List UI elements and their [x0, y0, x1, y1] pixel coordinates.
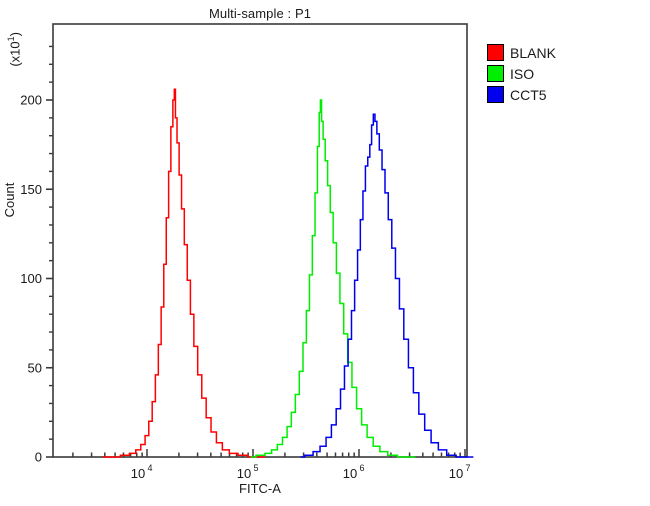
legend-swatch-cct5	[487, 86, 504, 103]
svg-text:10: 10	[449, 466, 463, 481]
curve-layer	[102, 89, 473, 457]
series-curve-cct5	[300, 114, 473, 457]
x-tick-label: 104	[131, 463, 153, 481]
svg-text:10: 10	[237, 466, 251, 481]
x-tick-label: 106	[343, 463, 365, 481]
svg-text:10: 10	[131, 466, 145, 481]
y-tick-label: 100	[20, 271, 42, 286]
y-tick-label: 200	[20, 93, 42, 108]
legend-item-iso: ISO	[487, 64, 556, 83]
series-curve-iso	[251, 100, 416, 457]
legend-label-blank: BLANK	[510, 46, 556, 60]
x-tick-label: 105	[237, 463, 259, 481]
legend-swatch-iso	[487, 65, 504, 82]
series-curve-blank	[102, 89, 265, 457]
x-tick-label: 107	[449, 463, 471, 481]
svg-text:7: 7	[465, 463, 470, 473]
svg-text:6: 6	[359, 463, 364, 473]
y-tick-label: 50	[28, 360, 42, 375]
legend-label-iso: ISO	[510, 67, 534, 81]
svg-text:10: 10	[343, 466, 357, 481]
legend: BLANK ISO CCT5	[487, 43, 556, 104]
axis-layer: 050100150200104105106107	[20, 24, 470, 481]
svg-text:4: 4	[147, 463, 152, 473]
legend-item-cct5: CCT5	[487, 85, 556, 104]
legend-label-cct5: CCT5	[510, 88, 547, 102]
plot-frame	[53, 24, 467, 457]
y-tick-label: 150	[20, 182, 42, 197]
legend-item-blank: BLANK	[487, 43, 556, 62]
flow-cytometry-figure: Multi-sample : P1 (x101) Count FITC-A 05…	[0, 0, 650, 506]
legend-swatch-blank	[487, 44, 504, 61]
svg-text:5: 5	[253, 463, 258, 473]
y-tick-label: 0	[35, 450, 42, 465]
